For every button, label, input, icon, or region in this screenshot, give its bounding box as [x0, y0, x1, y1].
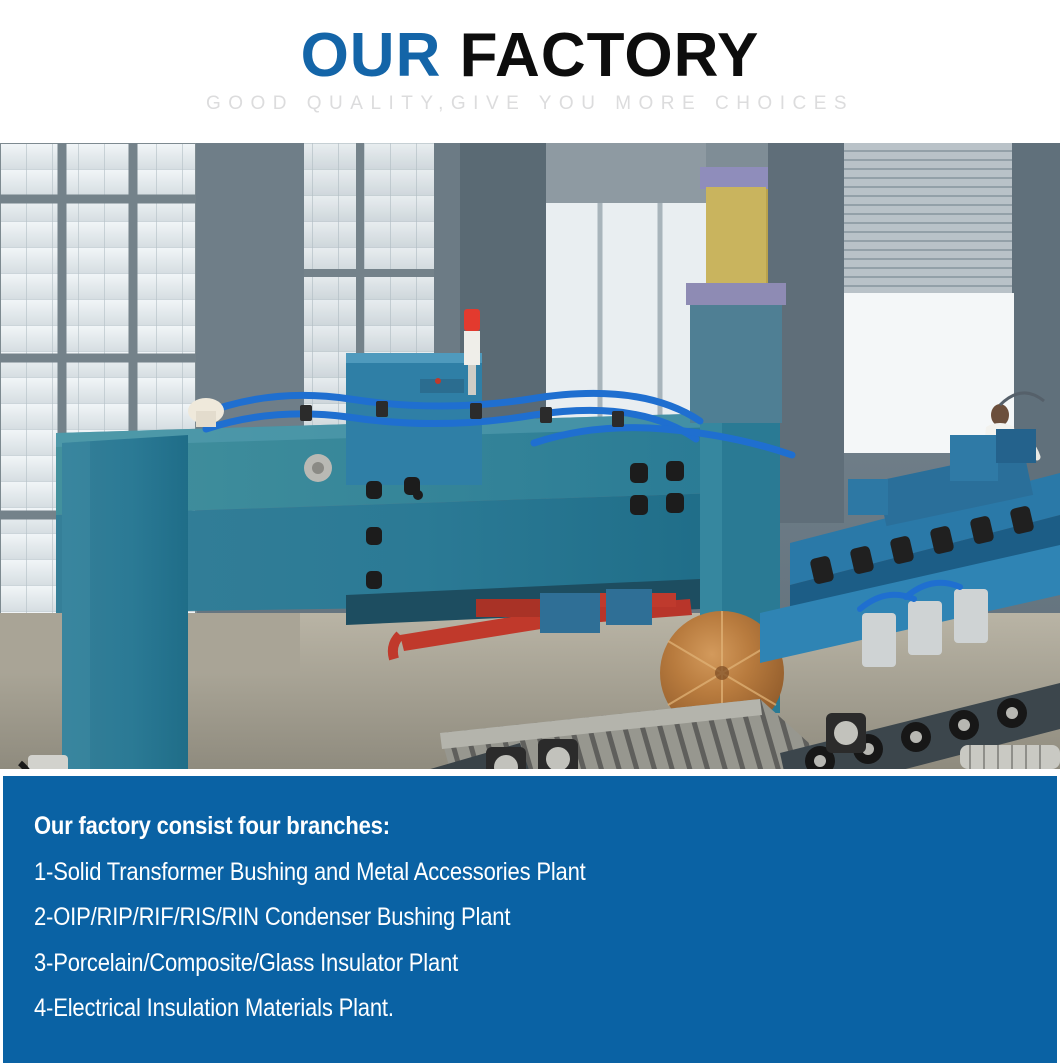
branch-item-2: 2-OIP/RIP/RIF/RIS/RIN Condenser Bushing … — [34, 895, 934, 941]
page-title-accent: OUR — [301, 21, 442, 90]
page-title-rest: FACTORY — [460, 21, 760, 90]
page-title-space — [441, 21, 459, 90]
branch-item-4: 4-Electrical Insulation Materials Plant. — [34, 986, 934, 1032]
photo-panel-divider — [0, 769, 1060, 776]
factory-photo — [0, 143, 1060, 769]
page-subtitle: GOOD QUALITY,GIVE YOU MORE CHOICES — [0, 92, 1060, 116]
branch-item-3: 3-Porcelain/Composite/Glass Insulator Pl… — [34, 941, 934, 987]
branches-heading: Our factory consist four branches: — [34, 804, 934, 850]
branch-item-1: 1-Solid Transformer Bushing and Metal Ac… — [34, 850, 934, 896]
bottom-right-parts — [960, 745, 1060, 769]
page-title: OUR FACTORY — [0, 22, 1060, 90]
page-header: OUR FACTORY GOOD QUALITY,GIVE YOU MORE C… — [0, 0, 1060, 143]
factory-photo-illustration — [0, 143, 1060, 769]
factory-branches-panel: Our factory consist four branches: 1-Sol… — [0, 776, 1060, 1063]
